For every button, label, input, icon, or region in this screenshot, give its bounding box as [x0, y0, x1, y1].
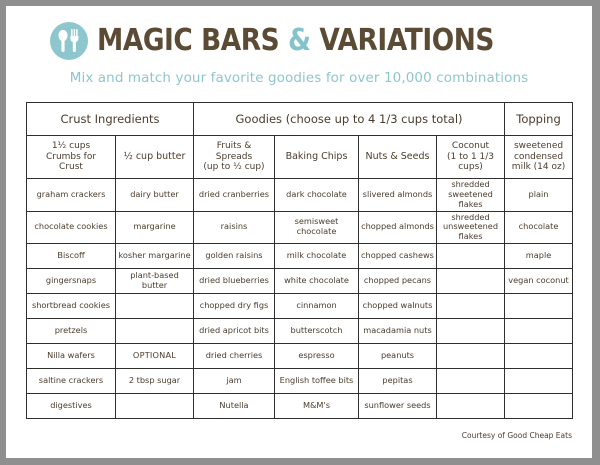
page-title: MAGIC BARS & VARIATIONS — [97, 26, 494, 56]
table-cell: digestives — [27, 394, 116, 419]
spoon-fork-circle-icon — [50, 22, 88, 60]
table-cell: shortbread cookies — [27, 294, 116, 319]
table-cell: chopped walnuts — [359, 294, 437, 319]
table-cell — [116, 319, 194, 344]
table-cell: margarine — [116, 211, 194, 244]
table-cell: shredded sweetened flakes — [437, 179, 505, 212]
table-cell: dark chocolate — [275, 179, 359, 212]
column-header-milk-line1: sweetened — [507, 141, 570, 152]
table-cell: macadamia nuts — [359, 319, 437, 344]
column-header-coconut-line1: Coconut — [439, 141, 502, 152]
column-header-milk-line2: condensed — [507, 152, 570, 163]
column-header-crumbs-line2: Crumbs for — [29, 152, 113, 163]
table-cell: dried blueberries — [194, 269, 275, 294]
table-cell — [437, 394, 505, 419]
table-cell: chopped almonds — [359, 211, 437, 244]
table-cell: chopped cashews — [359, 244, 437, 269]
table-cell: slivered almonds — [359, 179, 437, 212]
header: MAGIC BARS & VARIATIONS Mix and match yo… — [6, 6, 592, 86]
table-cell — [437, 294, 505, 319]
page-subtitle: Mix and match your favorite goodies for … — [6, 70, 592, 86]
table-cell: plant-based butter — [116, 269, 194, 294]
table-cell: kosher margarine — [116, 244, 194, 269]
table-row: gingersnapsplant-based butterdried blueb… — [27, 269, 573, 294]
table-cell — [116, 394, 194, 419]
column-header-butter: ½ cup butter — [116, 136, 194, 179]
infographic-page: MAGIC BARS & VARIATIONS Mix and match yo… — [6, 6, 592, 458]
ingredients-table-wrap: Crust Ingredients Goodies (choose up to … — [26, 102, 572, 419]
table-cell: golden raisins — [194, 244, 275, 269]
table-cell: Nilla wafers — [27, 344, 116, 369]
table-body: graham crackersdairy butterdried cranber… — [27, 179, 573, 419]
table-cell — [437, 244, 505, 269]
table-cell: English toffee bits — [275, 369, 359, 394]
column-header-fruits-spreads: Fruits & Spreads (up to ½ cup) — [194, 136, 275, 179]
ingredients-table: Crust Ingredients Goodies (choose up to … — [26, 102, 573, 419]
table-row: graham crackersdairy butterdried cranber… — [27, 179, 573, 212]
table-cell — [437, 344, 505, 369]
table-row: chocolate cookiesmargarineraisinssemiswe… — [27, 211, 573, 244]
table-cell: dairy butter — [116, 179, 194, 212]
table-row: Nilla wafersOPTIONALdried cherriesespres… — [27, 344, 573, 369]
page-title-ampersand: & — [288, 23, 311, 58]
table-cell — [505, 369, 573, 394]
group-header-goodies: Goodies (choose up to 4 1/3 cups total) — [194, 103, 505, 136]
table-cell: white chocolate — [275, 269, 359, 294]
table-row: pretzelsdried apricot bitsbutterscotchma… — [27, 319, 573, 344]
group-header-crust: Crust Ingredients — [27, 103, 194, 136]
table-row: digestivesNutellaM&M'ssunflower seeds — [27, 394, 573, 419]
table-row: shortbread cookieschopped dry figscinnam… — [27, 294, 573, 319]
table-cell — [505, 394, 573, 419]
table-cell — [437, 319, 505, 344]
table-cell: M&M's — [275, 394, 359, 419]
group-header-topping: Topping — [505, 103, 573, 136]
page-title-part1: MAGIC BARS — [97, 23, 288, 58]
column-header-coconut-line2: (1 to 1 1/3 — [439, 152, 502, 163]
table-cell: gingersnaps — [27, 269, 116, 294]
column-header-crumbs-line1: 1½ cups — [29, 141, 113, 152]
title-row: MAGIC BARS & VARIATIONS — [6, 22, 592, 60]
table-cell: plain — [505, 179, 573, 212]
table-cell: chopped dry figs — [194, 294, 275, 319]
column-header-fruits-line1: Fruits & — [196, 141, 272, 152]
column-header-baking-chips: Baking Chips — [275, 136, 359, 179]
table-cell — [505, 344, 573, 369]
table-cell: OPTIONAL — [116, 344, 194, 369]
table-cell: Biscoff — [27, 244, 116, 269]
table-cell — [505, 319, 573, 344]
table-head: Crust Ingredients Goodies (choose up to … — [27, 103, 573, 179]
table-cell: peanuts — [359, 344, 437, 369]
table-cell: chopped pecans — [359, 269, 437, 294]
table-cell: raisins — [194, 211, 275, 244]
column-header-row: 1½ cups Crumbs for Crust ½ cup butter Fr… — [27, 136, 573, 179]
table-cell: pretzels — [27, 319, 116, 344]
table-cell — [505, 294, 573, 319]
table-cell: espresso — [275, 344, 359, 369]
table-cell: butterscotch — [275, 319, 359, 344]
table-cell: graham crackers — [27, 179, 116, 212]
table-cell — [437, 269, 505, 294]
table-cell: chocolate — [505, 211, 573, 244]
credit-line: Courtesy of Good Cheap Eats — [6, 431, 572, 440]
column-header-fruits-line3: (up to ½ cup) — [196, 162, 272, 173]
column-header-nuts-seeds: Nuts & Seeds — [359, 136, 437, 179]
column-header-crumbs-line3: Crust — [29, 162, 113, 173]
table-cell: dried apricot bits — [194, 319, 275, 344]
table-cell: shredded unsweetened flakes — [437, 211, 505, 244]
table-cell: semisweet chocolate — [275, 211, 359, 244]
table-cell: pepitas — [359, 369, 437, 394]
table-cell: dried cranberries — [194, 179, 275, 212]
group-header-row: Crust Ingredients Goodies (choose up to … — [27, 103, 573, 136]
table-cell: chocolate cookies — [27, 211, 116, 244]
table-cell: vegan coconut — [505, 269, 573, 294]
table-cell: saltine crackers — [27, 369, 116, 394]
table-cell: milk chocolate — [275, 244, 359, 269]
table-row: Biscoffkosher margarinegolden raisinsmil… — [27, 244, 573, 269]
table-cell — [437, 369, 505, 394]
page-title-part2: VARIATIONS — [311, 23, 494, 58]
column-header-coconut-line3: cups) — [439, 162, 502, 173]
column-header-coconut: Coconut (1 to 1 1/3 cups) — [437, 136, 505, 179]
table-cell: Nutella — [194, 394, 275, 419]
table-cell: cinnamon — [275, 294, 359, 319]
table-row: saltine crackers2 tbsp sugarjamEnglish t… — [27, 369, 573, 394]
column-header-condensed-milk: sweetened condensed milk (14 oz) — [505, 136, 573, 179]
table-cell: 2 tbsp sugar — [116, 369, 194, 394]
column-header-crumbs: 1½ cups Crumbs for Crust — [27, 136, 116, 179]
table-cell — [116, 294, 194, 319]
table-cell: maple — [505, 244, 573, 269]
table-cell: sunflower seeds — [359, 394, 437, 419]
column-header-fruits-line2: Spreads — [196, 152, 272, 163]
table-cell: jam — [194, 369, 275, 394]
column-header-milk-line3: milk (14 oz) — [507, 162, 570, 173]
table-cell: dried cherries — [194, 344, 275, 369]
